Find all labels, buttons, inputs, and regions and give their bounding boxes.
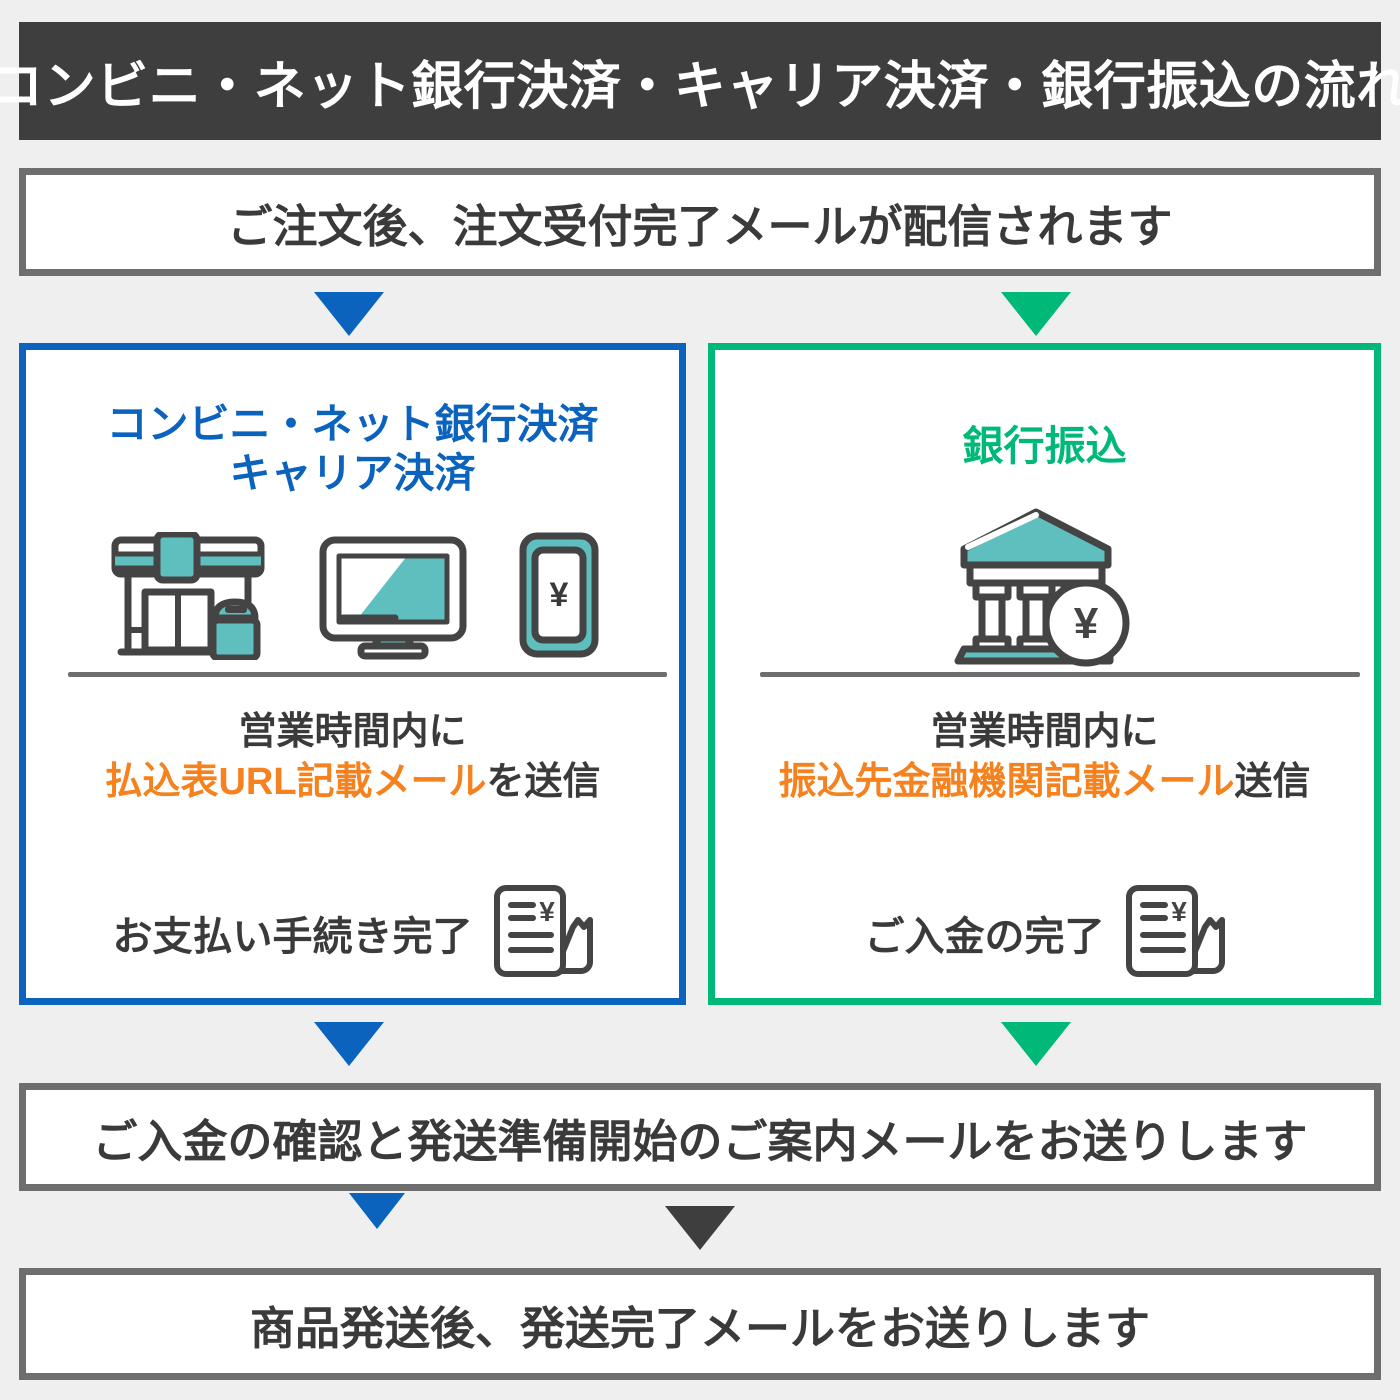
svg-text:¥: ¥ — [539, 896, 555, 927]
desktop-monitor-icon — [315, 534, 471, 660]
bank-building-yen-icon: ¥ — [950, 505, 1140, 667]
panel-conveni-payment: コンビニ・ネット銀行決済 キャリア決済 — [19, 343, 686, 1005]
conveni-result-label: お支払い手続き完了 — [113, 904, 473, 962]
smartphone-yen-icon: ¥ — [513, 530, 605, 660]
bank-note-highlight: 振込先金融機関記載メール — [778, 761, 1234, 803]
step-order-received-box: ご注文後、注文受付完了メールが配信されます — [19, 168, 1381, 276]
panel-bank-transfer: 銀行振込 — [708, 343, 1381, 1005]
bank-icon-row: ¥ — [715, 502, 1374, 667]
bank-note: 営業時間内に 振込先金融機関記載メール送信 — [715, 707, 1374, 807]
conveni-icon-row: ¥ — [26, 530, 679, 660]
step-payment-confirmed-label: ご入金の確認と発送準備開始のご案内メールをお送りします — [92, 1105, 1307, 1170]
step-shipped-box: 商品発送後、発送完了メールをお送りします — [19, 1268, 1381, 1380]
arrow-down-from-bank-panel — [1001, 1022, 1071, 1066]
bank-divider — [760, 672, 1360, 677]
arrow-down-to-shipped — [665, 1206, 735, 1250]
svg-text:¥: ¥ — [1073, 599, 1098, 648]
arrow-down-from-conveni-panel — [314, 1022, 384, 1066]
diagram-title: コンビニ・ネット銀行決済・キャリア決済・銀行振込の流れ — [0, 44, 1400, 119]
panel-bank-heading: 銀行振込 — [715, 422, 1374, 471]
payment-flow-diagram: コンビニ・ネット銀行決済・キャリア決済・銀行振込の流れ ご注文後、注文受付完了メ… — [0, 0, 1400, 1400]
convenience-store-icon — [101, 532, 273, 660]
svg-text:¥: ¥ — [1171, 896, 1187, 927]
conveni-note-line1: 営業時間内に — [238, 711, 466, 753]
diagram-title-bar: コンビニ・ネット銀行決済・キャリア決済・銀行振込の流れ — [19, 22, 1381, 140]
receipt-yen-icon: ¥ — [1121, 883, 1225, 983]
conveni-divider — [68, 672, 667, 677]
bank-note-line1: 営業時間内に — [930, 711, 1158, 753]
svg-text:¥: ¥ — [549, 576, 568, 614]
receipt-yen-icon: ¥ — [489, 883, 593, 983]
step-order-received-label: ご注文後、注文受付完了メールが配信されます — [227, 190, 1172, 255]
step-shipped-label: 商品発送後、発送完了メールをお送りします — [250, 1292, 1150, 1357]
arrow-down-conveni-result — [349, 1193, 405, 1229]
bank-result-row: ご入金の完了 ¥ — [715, 883, 1374, 983]
panel-bank-heading-line1: 銀行振込 — [963, 423, 1127, 469]
step-payment-confirmed-box: ご入金の確認と発送準備開始のご案内メールをお送りします — [19, 1083, 1381, 1191]
arrow-down-to-conveni-icon — [314, 292, 384, 336]
conveni-note: 営業時間内に 払込表URL記載メールを送信 — [26, 707, 679, 807]
panel-conveni-heading-line2: キャリア決済 — [230, 450, 476, 496]
conveni-result-row: お支払い手続き完了 ¥ — [26, 883, 679, 983]
bank-note-suffix: 送信 — [1235, 761, 1311, 803]
panel-conveni-heading: コンビニ・ネット銀行決済 キャリア決済 — [26, 400, 679, 498]
conveni-note-suffix: を送信 — [487, 761, 601, 803]
panel-conveni-heading-line1: コンビニ・ネット銀行決済 — [107, 401, 599, 447]
arrow-down-to-bank-icon — [1001, 292, 1071, 336]
conveni-note-highlight: 払込表URL記載メール — [104, 761, 486, 803]
bank-result-label: ご入金の完了 — [865, 904, 1105, 962]
